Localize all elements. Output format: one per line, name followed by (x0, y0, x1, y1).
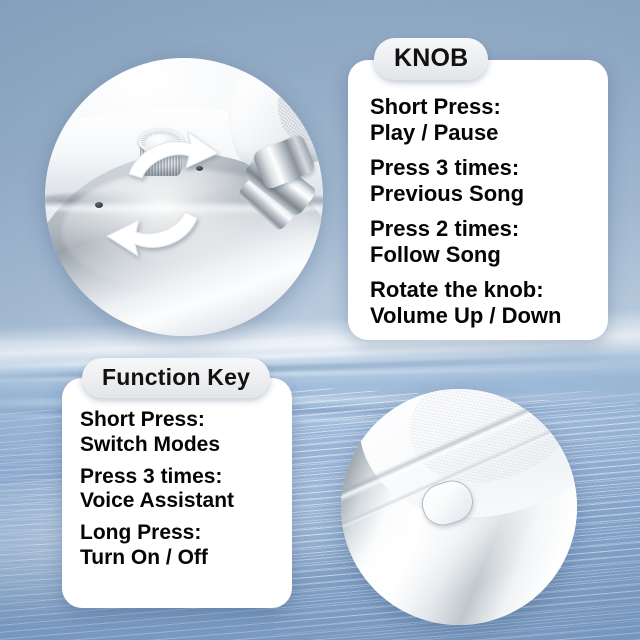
function-item-0-result: Switch Modes (80, 433, 280, 458)
knurled-knob (138, 126, 184, 178)
function-item-1-action: Press 3 times: (80, 465, 280, 490)
knob-item-2: Press 2 times: Follow Song (370, 216, 594, 268)
knob-item-0-action: Short Press: (370, 94, 594, 120)
function-key-info-card: Function Key Short Press: Switch Modes P… (62, 378, 292, 608)
function-item-2-action: Long Press: (80, 521, 280, 546)
function-item-2-result: Turn On / Off (80, 546, 280, 571)
function-item-2: Long Press: Turn On / Off (80, 521, 280, 571)
knob-top-face (145, 134, 177, 152)
infographic-stage: KNOB Short Press: Play / Pause Press 3 t… (0, 0, 640, 640)
knob-item-2-result: Follow Song (370, 242, 594, 268)
function-button-photo-circle (341, 389, 577, 625)
knob-card-title: KNOB (374, 38, 488, 80)
knob-item-1-action: Press 3 times: (370, 155, 594, 181)
function-card-body: Short Press: Switch Modes Press 3 times:… (80, 408, 280, 578)
knob-item-2-action: Press 2 times: (370, 216, 594, 242)
knob-photo-circle (45, 58, 323, 336)
knob-item-0-result: Play / Pause (370, 120, 594, 146)
knob-item-1: Press 3 times: Previous Song (370, 155, 594, 207)
function-item-0: Short Press: Switch Modes (80, 408, 280, 458)
function-item-0-action: Short Press: (80, 408, 280, 433)
function-card-title: Function Key (82, 358, 270, 398)
function-item-1: Press 3 times: Voice Assistant (80, 465, 280, 515)
mic-hole-icon (196, 166, 203, 171)
knob-item-0: Short Press: Play / Pause (370, 94, 594, 146)
function-item-1-result: Voice Assistant (80, 489, 280, 514)
knob-info-card: KNOB Short Press: Play / Pause Press 3 t… (348, 60, 608, 340)
knob-item-3: Rotate the knob: Volume Up / Down (370, 277, 594, 329)
mic-hole-icon (95, 202, 103, 208)
knob-item-1-result: Previous Song (370, 181, 594, 207)
knob-card-body: Short Press: Play / Pause Press 3 times:… (370, 94, 594, 338)
knob-knurl-top (138, 128, 184, 154)
knob-item-3-result: Volume Up / Down (370, 303, 594, 329)
knob-item-3-action: Rotate the knob: (370, 277, 594, 303)
